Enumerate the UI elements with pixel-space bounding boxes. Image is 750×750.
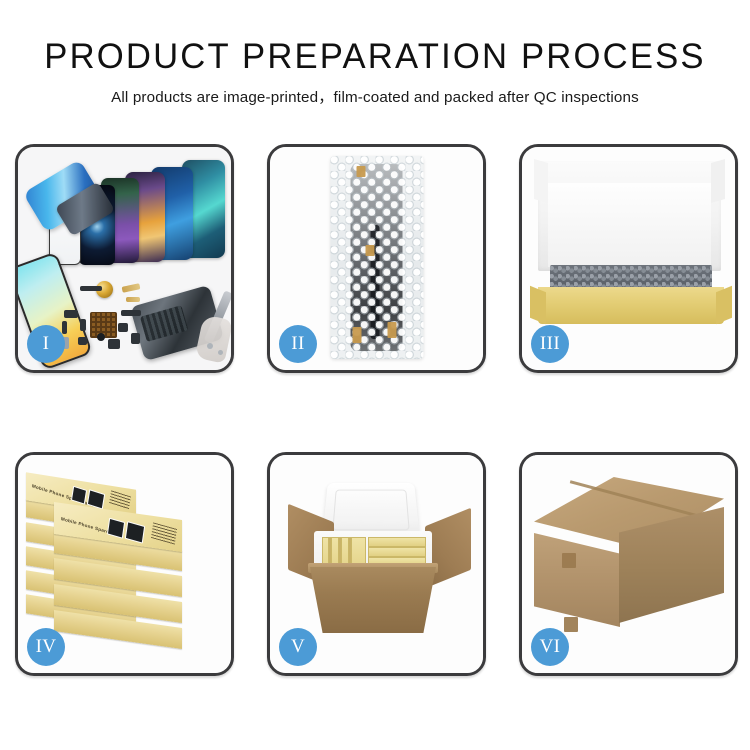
packed-box-2 xyxy=(368,537,426,547)
part-screw-1 xyxy=(207,343,213,349)
part-bracket-2 xyxy=(62,321,67,334)
carton-tape-bottom xyxy=(564,617,578,632)
step-panel-2[interactable]: II xyxy=(267,144,486,373)
box-label-lines-1 xyxy=(109,490,131,510)
carton-body xyxy=(310,567,436,633)
part-connector xyxy=(131,333,140,344)
process-steps-grid: I II xyxy=(15,144,737,676)
poster-page: PRODUCT PREPARATION PROCESS All products… xyxy=(0,0,750,750)
part-flex-cable-3 xyxy=(121,310,141,316)
part-speaker xyxy=(80,286,102,291)
poster-header: PRODUCT PREPARATION PROCESS All products… xyxy=(0,38,750,107)
box-label-lines-2 xyxy=(151,522,177,544)
part-screw-2 xyxy=(218,350,223,355)
box-label-window-1 xyxy=(71,486,87,505)
page-title: PRODUCT PREPARATION PROCESS xyxy=(4,38,747,76)
part-flex-cable-2 xyxy=(126,297,140,302)
step-panel-6[interactable]: VI xyxy=(519,452,738,676)
tape-3 xyxy=(352,327,361,343)
step-panel-1[interactable]: I xyxy=(15,144,234,373)
bubble-texture xyxy=(330,156,423,359)
packed-box-3 xyxy=(368,547,426,557)
box-label-window-3 xyxy=(107,518,125,539)
page-subtitle: All products are image-printed，film-coat… xyxy=(0,85,750,107)
carton-tape-top xyxy=(562,553,576,568)
part-bracket-1 xyxy=(64,310,78,318)
step-badge-4: IV xyxy=(27,628,65,666)
step-badge-1: I xyxy=(27,325,65,363)
tape-4 xyxy=(388,322,397,338)
bubble-wrap-bag xyxy=(330,156,423,359)
step-panel-3[interactable]: III xyxy=(519,144,738,373)
box-label-window-4 xyxy=(125,521,145,543)
step-panel-5[interactable]: V xyxy=(267,452,486,676)
step-badge-2: II xyxy=(279,325,317,363)
tape-2 xyxy=(365,245,374,256)
part-camera-lens xyxy=(97,333,105,341)
part-vibrator xyxy=(108,339,120,349)
part-bracket-3 xyxy=(80,319,86,331)
step-badge-6: VI xyxy=(531,628,569,666)
part-camera-module xyxy=(118,323,128,332)
tape-1 xyxy=(356,166,365,177)
step-badge-5: V xyxy=(279,628,317,666)
inner-box-lid-face xyxy=(548,183,711,267)
step-badge-3: III xyxy=(531,325,569,363)
inner-box-base xyxy=(538,287,724,324)
step-panel-4[interactable]: Mobile Phone Spare Parts Mobile Phone Sp… xyxy=(15,452,234,676)
part-button xyxy=(78,337,87,345)
